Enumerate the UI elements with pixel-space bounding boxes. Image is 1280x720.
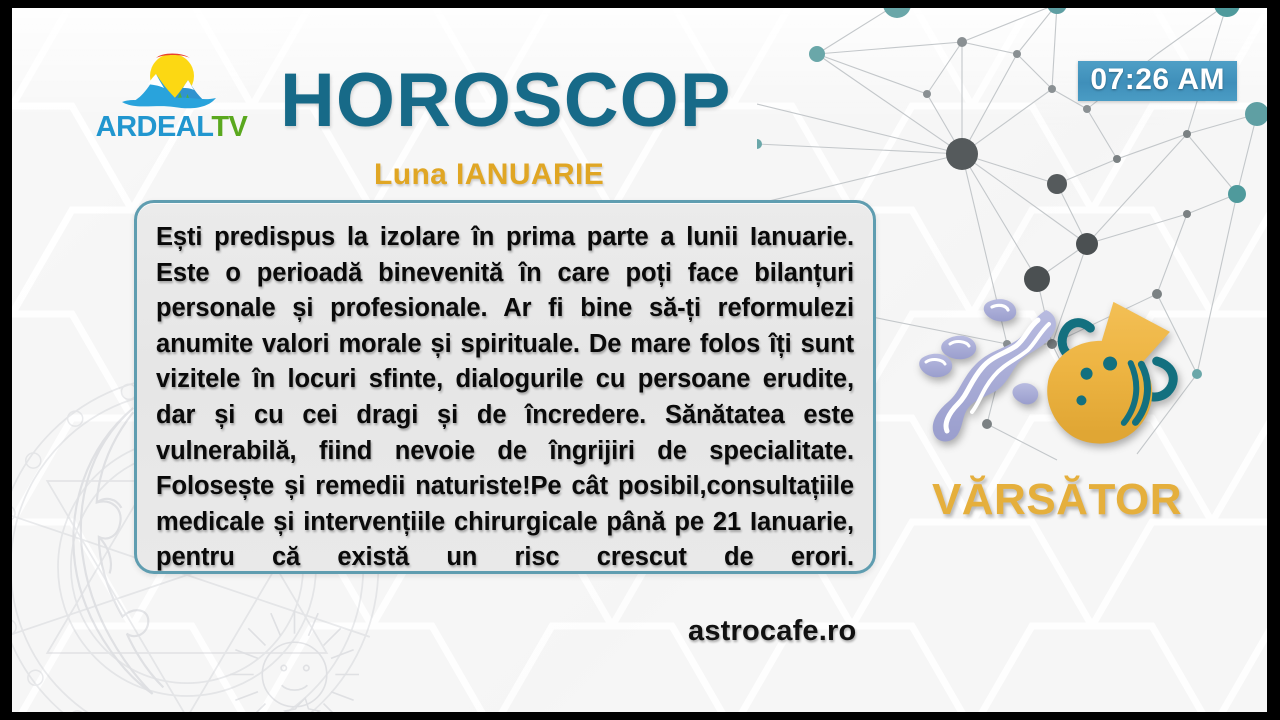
page-title: HOROSCOP [280, 63, 731, 139]
page-subtitle: Luna IANUARIE [374, 158, 604, 192]
logo-text-tv: TV [211, 111, 247, 143]
letterbox-bar-top [0, 0, 1280, 8]
mountain-sun-logo-icon [112, 52, 232, 112]
aquarius-water-bearer-icon [918, 280, 1186, 462]
letterbox-bar-right [1267, 0, 1280, 720]
horoscope-body-text: Ești predispus la izolare în prima parte… [156, 220, 854, 574]
channel-logo-text: ARDEALTV [84, 113, 259, 142]
channel-logo[interactable]: ARDEALTV [84, 52, 259, 148]
letterbox-bar-left [0, 0, 12, 720]
logo-text-ardeal: ARDEAL [96, 111, 212, 143]
broadcast-safe-area: ARDEALTV 07:26 AM HOROSCOP Luna IANUARIE… [12, 8, 1267, 712]
source-website: astrocafe.ro [688, 615, 856, 648]
clock-display: 07:26 AM [1078, 61, 1237, 101]
horoscope-text-panel: Ești predispus la izolare în prima parte… [134, 200, 876, 574]
zodiac-sign-name: VĂRSĂTOR [912, 478, 1202, 522]
broadcast-screen: ARDEALTV 07:26 AM HOROSCOP Luna IANUARIE… [0, 0, 1280, 720]
letterbox-bar-bottom [0, 712, 1280, 720]
